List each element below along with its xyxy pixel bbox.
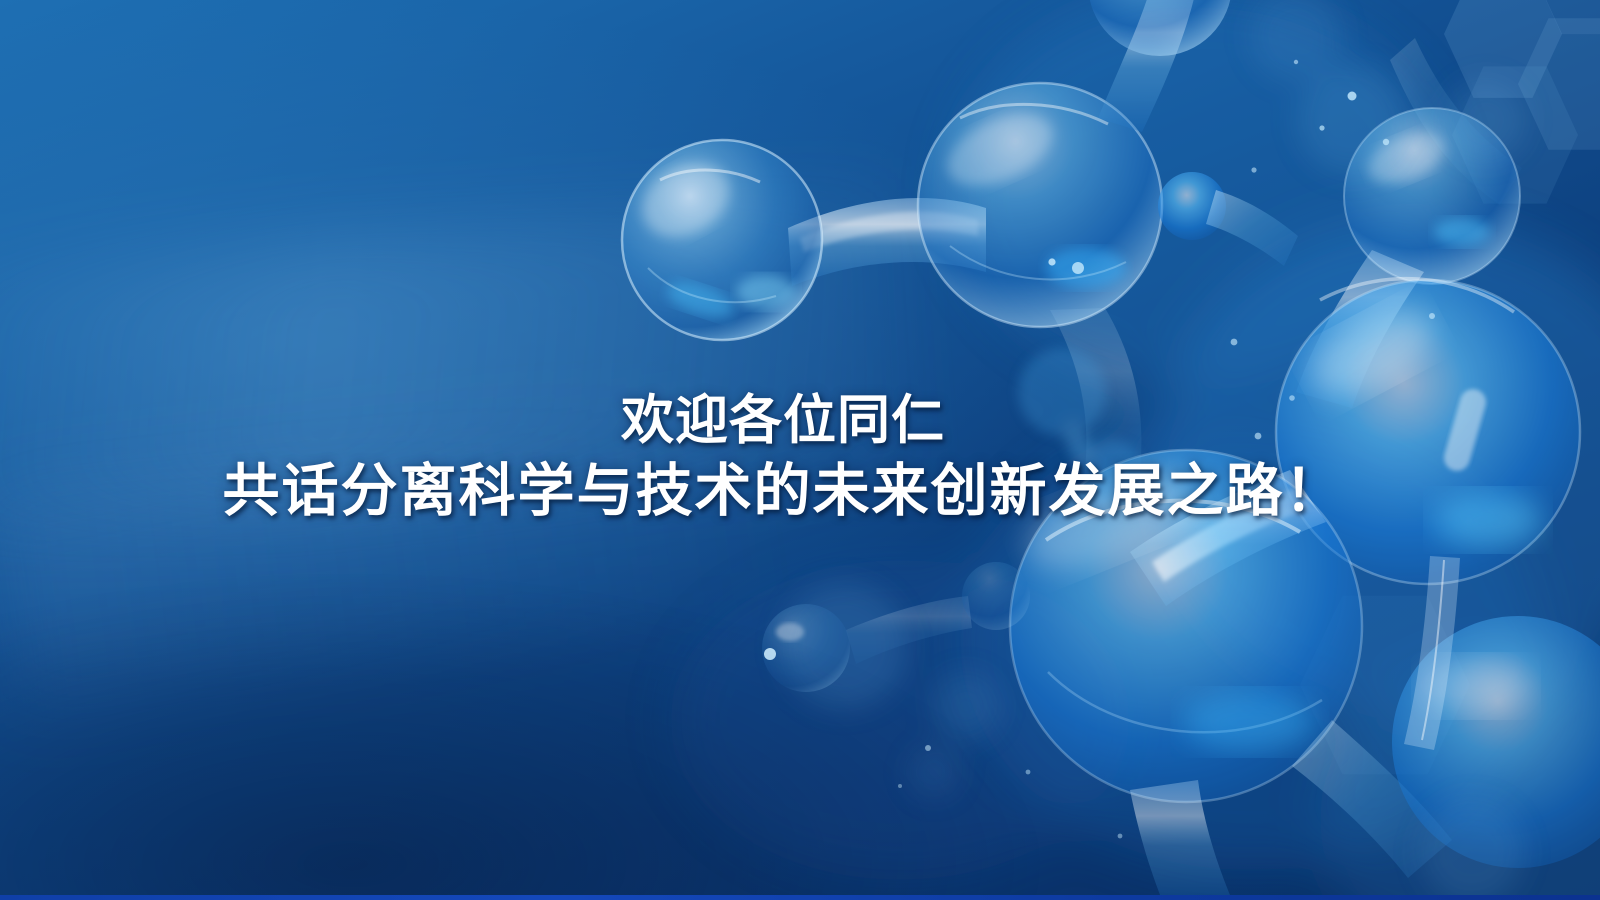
bottom-accent-strip [0,895,1600,900]
headline-block: 欢迎各位同仁 共话分离科学与技术的未来创新发展之路！ [0,388,1566,528]
headline-line-2: 共话分离科学与技术的未来创新发展之路！ [0,454,1566,528]
headline-line-1: 欢迎各位同仁 [0,388,1566,454]
slide-canvas: 欢迎各位同仁 共话分离科学与技术的未来创新发展之路！ [0,0,1600,900]
